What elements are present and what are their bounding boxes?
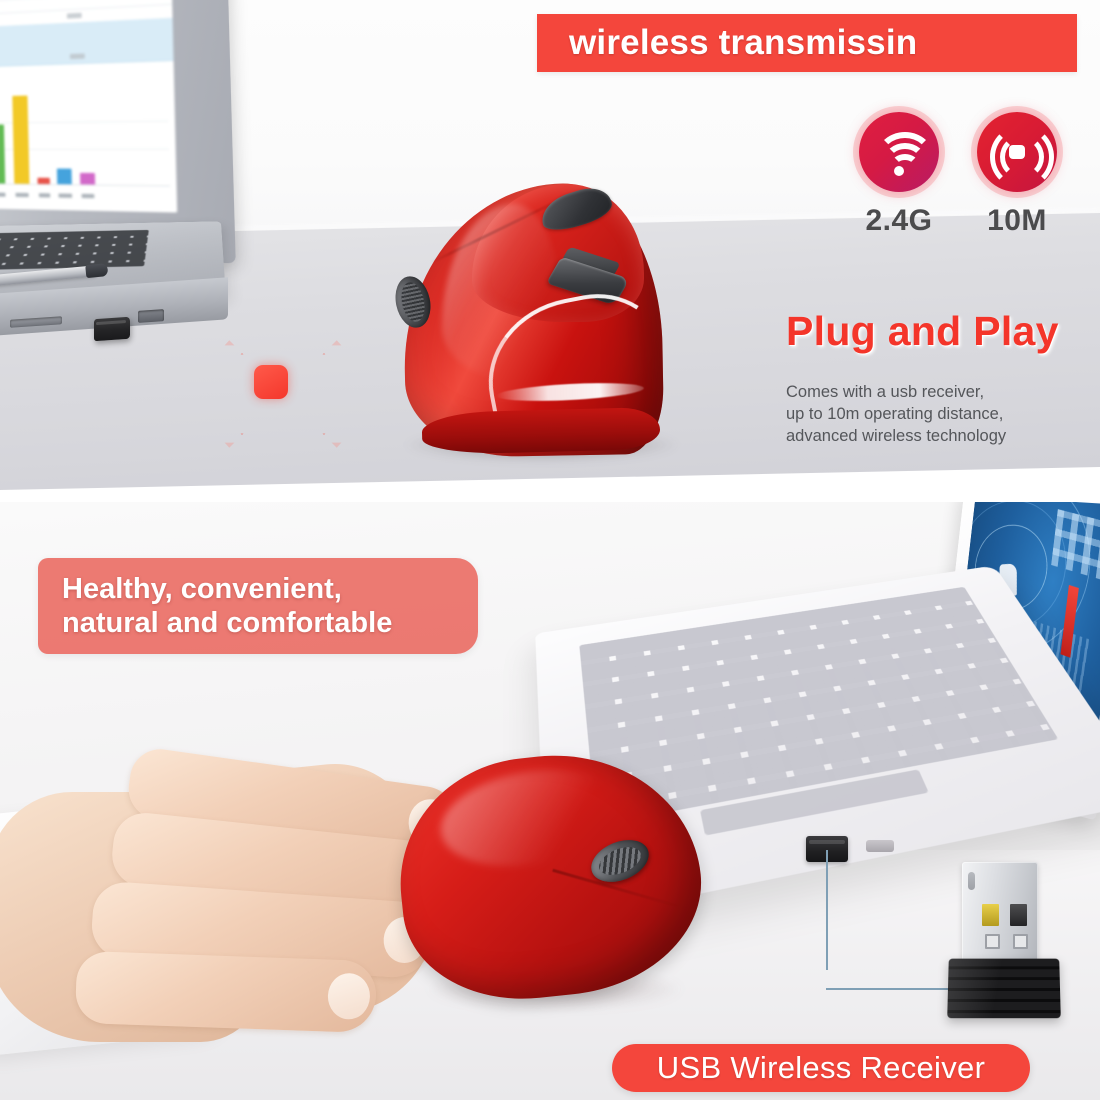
plug-and-play-heading: Plug and Play: [786, 308, 1059, 355]
laptop-keyboard: [0, 230, 149, 271]
vertical-mouse-in-use: [400, 756, 710, 1024]
wifi-icon: [859, 112, 939, 192]
healthy-banner-line-2: natural and comfortable: [38, 606, 478, 640]
healthy-convenient-banner: Healthy, convenient, natural and comfort…: [38, 558, 478, 654]
usb-connector-metal: [962, 862, 1038, 966]
feature-badges: 2.4G 10M: [838, 112, 1088, 262]
callout-line: [826, 850, 958, 990]
spreadsheet-table: [0, 0, 174, 78]
panel-divider: [0, 490, 1100, 502]
usb-plastic-body: [947, 959, 1061, 1019]
usb-contact-gold: [982, 904, 999, 926]
laptop-screen: [0, 0, 177, 213]
product-infographic-page: wireless transmissin 2.4G: [0, 0, 1100, 1100]
wireless-signal-waves-icon: [196, 330, 346, 434]
finger-pinky: [75, 951, 377, 1033]
signal-broadcast-icon: [977, 112, 1057, 192]
usb-tab-right: [1013, 934, 1028, 949]
badge-circle-2-4g: [859, 112, 939, 192]
usb-tab-left: [985, 934, 1000, 949]
description-line-2: up to 10m operating distance,: [786, 404, 1086, 426]
badge-label-2-4g: 2.4G: [854, 204, 944, 238]
laptop-usb-port: [138, 309, 164, 323]
top-panel: wireless transmissin 2.4G: [0, 0, 1100, 490]
laptop-illustration: [0, 0, 232, 366]
fingernail: [327, 973, 371, 1020]
wireless-transmission-banner-text: wireless transmissin: [537, 23, 917, 63]
usb-wireless-receiver-banner-text: USB Wireless Receiver: [657, 1050, 985, 1086]
mouse-base: [421, 407, 660, 455]
usb-wireless-receiver-banner: USB Wireless Receiver: [612, 1044, 1030, 1092]
usb-dongle-plugged-icon: [94, 317, 130, 342]
vertical-mouse-product-image: [388, 178, 688, 468]
usb-contact-dark: [1010, 904, 1027, 926]
description-line-3: advanced wireless technology: [786, 426, 1086, 448]
usb-connector-notch: [968, 872, 975, 890]
usb-receiver-closeup: [948, 862, 1068, 1018]
healthy-banner-line-1: Healthy, convenient,: [38, 572, 478, 606]
bar-chart: [0, 82, 177, 213]
badge-10m: 10M: [972, 112, 1062, 238]
badge-circle-10m: [977, 112, 1057, 192]
badge-2-4g: 2.4G: [854, 112, 944, 238]
badge-label-10m: 10M: [972, 204, 1062, 238]
wireless-transmission-banner: wireless transmissin: [537, 14, 1077, 72]
description-line-1: Comes with a usb receiver,: [786, 382, 1086, 404]
plug-and-play-description: Comes with a usb receiver, up to 10m ope…: [786, 382, 1086, 447]
